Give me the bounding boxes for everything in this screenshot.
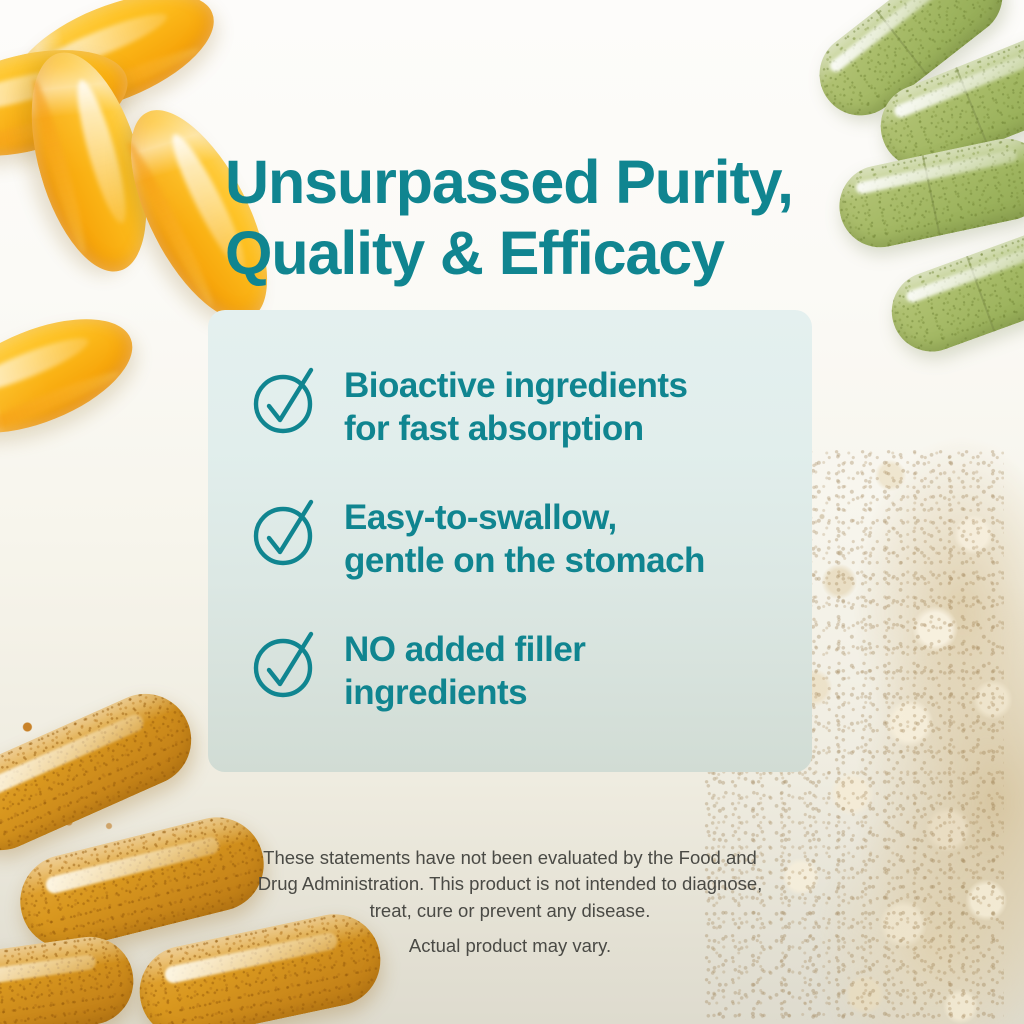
check-circle-icon (248, 628, 322, 702)
product-benefits-infographic: Unsurpassed Purity, Quality & Efficacy B… (0, 0, 1024, 1024)
benefits-panel: Bioactive ingredients for fast absorptio… (208, 310, 812, 772)
list-item-label-line-1: NO added filler (344, 628, 585, 671)
content-layer: Unsurpassed Purity, Quality & Efficacy B… (0, 0, 1024, 1024)
check-circle-icon (248, 364, 322, 438)
list-item-label-line-1: Bioactive ingredients (344, 364, 687, 407)
page-title: Unsurpassed Purity, Quality & Efficacy (225, 147, 845, 289)
fda-disclaimer: These statements have not been evaluated… (212, 845, 808, 924)
fda-disclaimer-line-2: Drug Administration. This product is not… (212, 871, 808, 897)
list-item-label-line-2: for fast absorption (344, 407, 687, 450)
check-circle-icon (248, 496, 322, 570)
fda-disclaimer-line-1: These statements have not been evaluated… (212, 845, 808, 871)
fda-disclaimer-line-3: treat, cure or prevent any disease. (212, 898, 808, 924)
product-variance-note: Actual product may vary. (212, 935, 808, 957)
benefits-list: Bioactive ingredients for fast absorptio… (208, 310, 812, 714)
list-item: NO added filler ingredients (248, 622, 812, 714)
list-item-label: Easy-to-swallow, gentle on the stomach (344, 490, 705, 582)
page-title-line-1: Unsurpassed Purity, (225, 147, 845, 218)
list-item-label: Bioactive ingredients for fast absorptio… (344, 358, 687, 450)
list-item-label-line-2: gentle on the stomach (344, 539, 705, 582)
list-item-label: NO added filler ingredients (344, 622, 585, 714)
page-title-line-2: Quality & Efficacy (225, 218, 845, 289)
list-item: Easy-to-swallow, gentle on the stomach (248, 490, 812, 582)
list-item: Bioactive ingredients for fast absorptio… (248, 358, 812, 450)
list-item-label-line-1: Easy-to-swallow, (344, 496, 705, 539)
list-item-label-line-2: ingredients (344, 671, 585, 714)
